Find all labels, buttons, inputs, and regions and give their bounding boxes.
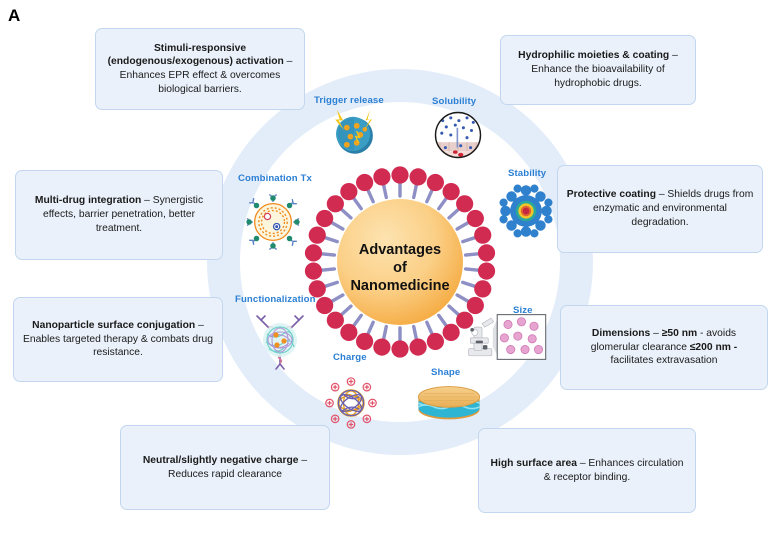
lipid-head (356, 174, 373, 191)
callout-stimuli-responsive[interactable]: Stimuli-responsive (endogenous/exogenous… (95, 28, 305, 110)
solubility-icon (431, 108, 485, 162)
lipid-head (305, 262, 322, 279)
lipid-head (443, 324, 460, 341)
trigger-release-icon (327, 106, 381, 160)
callout-term: Protective coating (567, 189, 656, 200)
satellite-label-stability: Stability (508, 168, 546, 179)
lipid-tail (320, 254, 334, 255)
lipid-tail (414, 327, 417, 341)
lipid-head (478, 262, 495, 279)
functionalization-icon (248, 304, 312, 376)
lipid-head (340, 324, 357, 341)
callout-desc-3: facilitates extravasation (610, 355, 717, 366)
lipid-head (467, 210, 484, 227)
lipid-tail (320, 269, 334, 270)
callout-term: Multi-drug integration (35, 195, 141, 206)
lipid-head (340, 183, 357, 200)
lipid-tail (439, 197, 447, 208)
satellite-label-charge: Charge (333, 352, 367, 363)
lipid-tail (449, 306, 459, 315)
lipid-tail (341, 208, 351, 217)
stability-icon (498, 183, 554, 239)
lipid-tail (383, 184, 386, 198)
lipid-head (316, 210, 333, 227)
lipid-tail (367, 322, 373, 335)
lipid-head (409, 168, 426, 185)
callout-nanoparticle-surface-conjugation[interactable]: Nanoparticle surface conjugation – Enabl… (13, 297, 223, 382)
lipid-head (443, 183, 460, 200)
callout-term: Stimuli-responsive (endogenous/exogenous… (108, 43, 284, 68)
callout-protective-coating[interactable]: Protective coating – Shields drugs from … (557, 165, 763, 253)
callout-text: Protective coating – Shields drugs from … (566, 188, 754, 229)
lipid-tail (383, 327, 386, 341)
lipid-tail (331, 295, 343, 302)
lipid-tail (341, 306, 351, 315)
size-icon (463, 311, 553, 363)
lipid-tail (353, 315, 361, 326)
combination-tx-icon (240, 189, 306, 255)
callout-text: Hydrophilic moieties & coating – Enhance… (509, 49, 687, 90)
lipid-head (391, 340, 408, 357)
callout-desc: – (650, 328, 661, 339)
lipid-tail (367, 189, 373, 202)
center-line-3: Nanomedicine (350, 278, 449, 294)
center-line-2: of (393, 260, 407, 276)
callout-dimensions[interactable]: Dimensions – ≥50 nm - avoids glomerular … (560, 305, 768, 390)
callout-hydrophilic-moieties[interactable]: Hydrophilic moieties & coating – Enhance… (500, 35, 696, 105)
satellite-label-combination-tx: Combination Tx (238, 173, 312, 184)
satellite-label-solubility: Solubility (432, 96, 476, 107)
lipid-tail (427, 322, 433, 335)
lipid-tail (463, 237, 476, 241)
lipid-head (391, 166, 408, 183)
lipid-tail (324, 237, 337, 241)
lipid-head (427, 333, 444, 350)
figure-panel-a: A Advantages of Nanomedicine Trigger rel… (0, 0, 778, 547)
lipid-head (474, 280, 491, 297)
callout-text: Nanoparticle surface conjugation – Enabl… (22, 319, 214, 360)
lipid-head (356, 333, 373, 350)
callout-term: High surface area (491, 458, 577, 469)
center-line-1: Advantages (359, 242, 441, 258)
lipid-tail (414, 184, 417, 198)
lipid-tail (353, 197, 361, 208)
lipid-tail (439, 315, 447, 326)
lipid-tail (463, 282, 476, 286)
callout-text: Dimensions – ≥50 nm - avoids glomerular … (569, 327, 759, 368)
lipid-head (373, 339, 390, 356)
lipid-head (409, 339, 426, 356)
lipid-head (305, 244, 322, 261)
lipid-tail (449, 208, 459, 217)
lipid-head (373, 168, 390, 185)
lipid-head (327, 195, 344, 212)
lipid-head (316, 297, 333, 314)
charge-icon (323, 375, 379, 431)
callout-multi-drug-integration[interactable]: Multi-drug integration – Synergistic eff… (15, 170, 223, 260)
lipid-tail (466, 254, 480, 255)
callout-term-3: ≤200 nm - (690, 342, 737, 353)
lipid-tail (457, 222, 469, 229)
lipid-head (474, 227, 491, 244)
lipid-head (456, 195, 473, 212)
callout-text: High surface area – Enhances circulation… (487, 457, 687, 484)
callout-term-2: ≥50 nm (662, 328, 697, 339)
lipid-head (427, 174, 444, 191)
callout-text: Multi-drug integration – Synergistic eff… (24, 194, 214, 235)
callout-term: Nanoparticle surface conjugation (32, 320, 195, 331)
callout-text: Stimuli-responsive (endogenous/exogenous… (104, 42, 296, 97)
callout-text: Neutral/slightly negative charge – Reduc… (129, 454, 321, 481)
lipid-tail (466, 269, 480, 270)
lipid-head (309, 227, 326, 244)
satellite-label-shape: Shape (431, 367, 460, 378)
shape-icon (413, 384, 485, 426)
callout-high-surface-area[interactable]: High surface area – Enhances circulation… (478, 428, 696, 513)
callout-term: Dimensions (592, 328, 650, 339)
lipid-tail (457, 295, 469, 302)
satellite-label-trigger-release: Trigger release (314, 95, 384, 106)
lipid-tail (331, 222, 343, 229)
callout-term: Neutral/slightly negative charge (143, 455, 299, 466)
callout-neutral-slightly-negative-charge[interactable]: Neutral/slightly negative charge – Reduc… (120, 425, 330, 510)
callout-term: Hydrophilic moieties & coating (518, 50, 669, 61)
lipid-head (327, 312, 344, 329)
lipid-head (478, 244, 495, 261)
lipid-tail (427, 189, 433, 202)
lipid-tail (324, 282, 337, 286)
